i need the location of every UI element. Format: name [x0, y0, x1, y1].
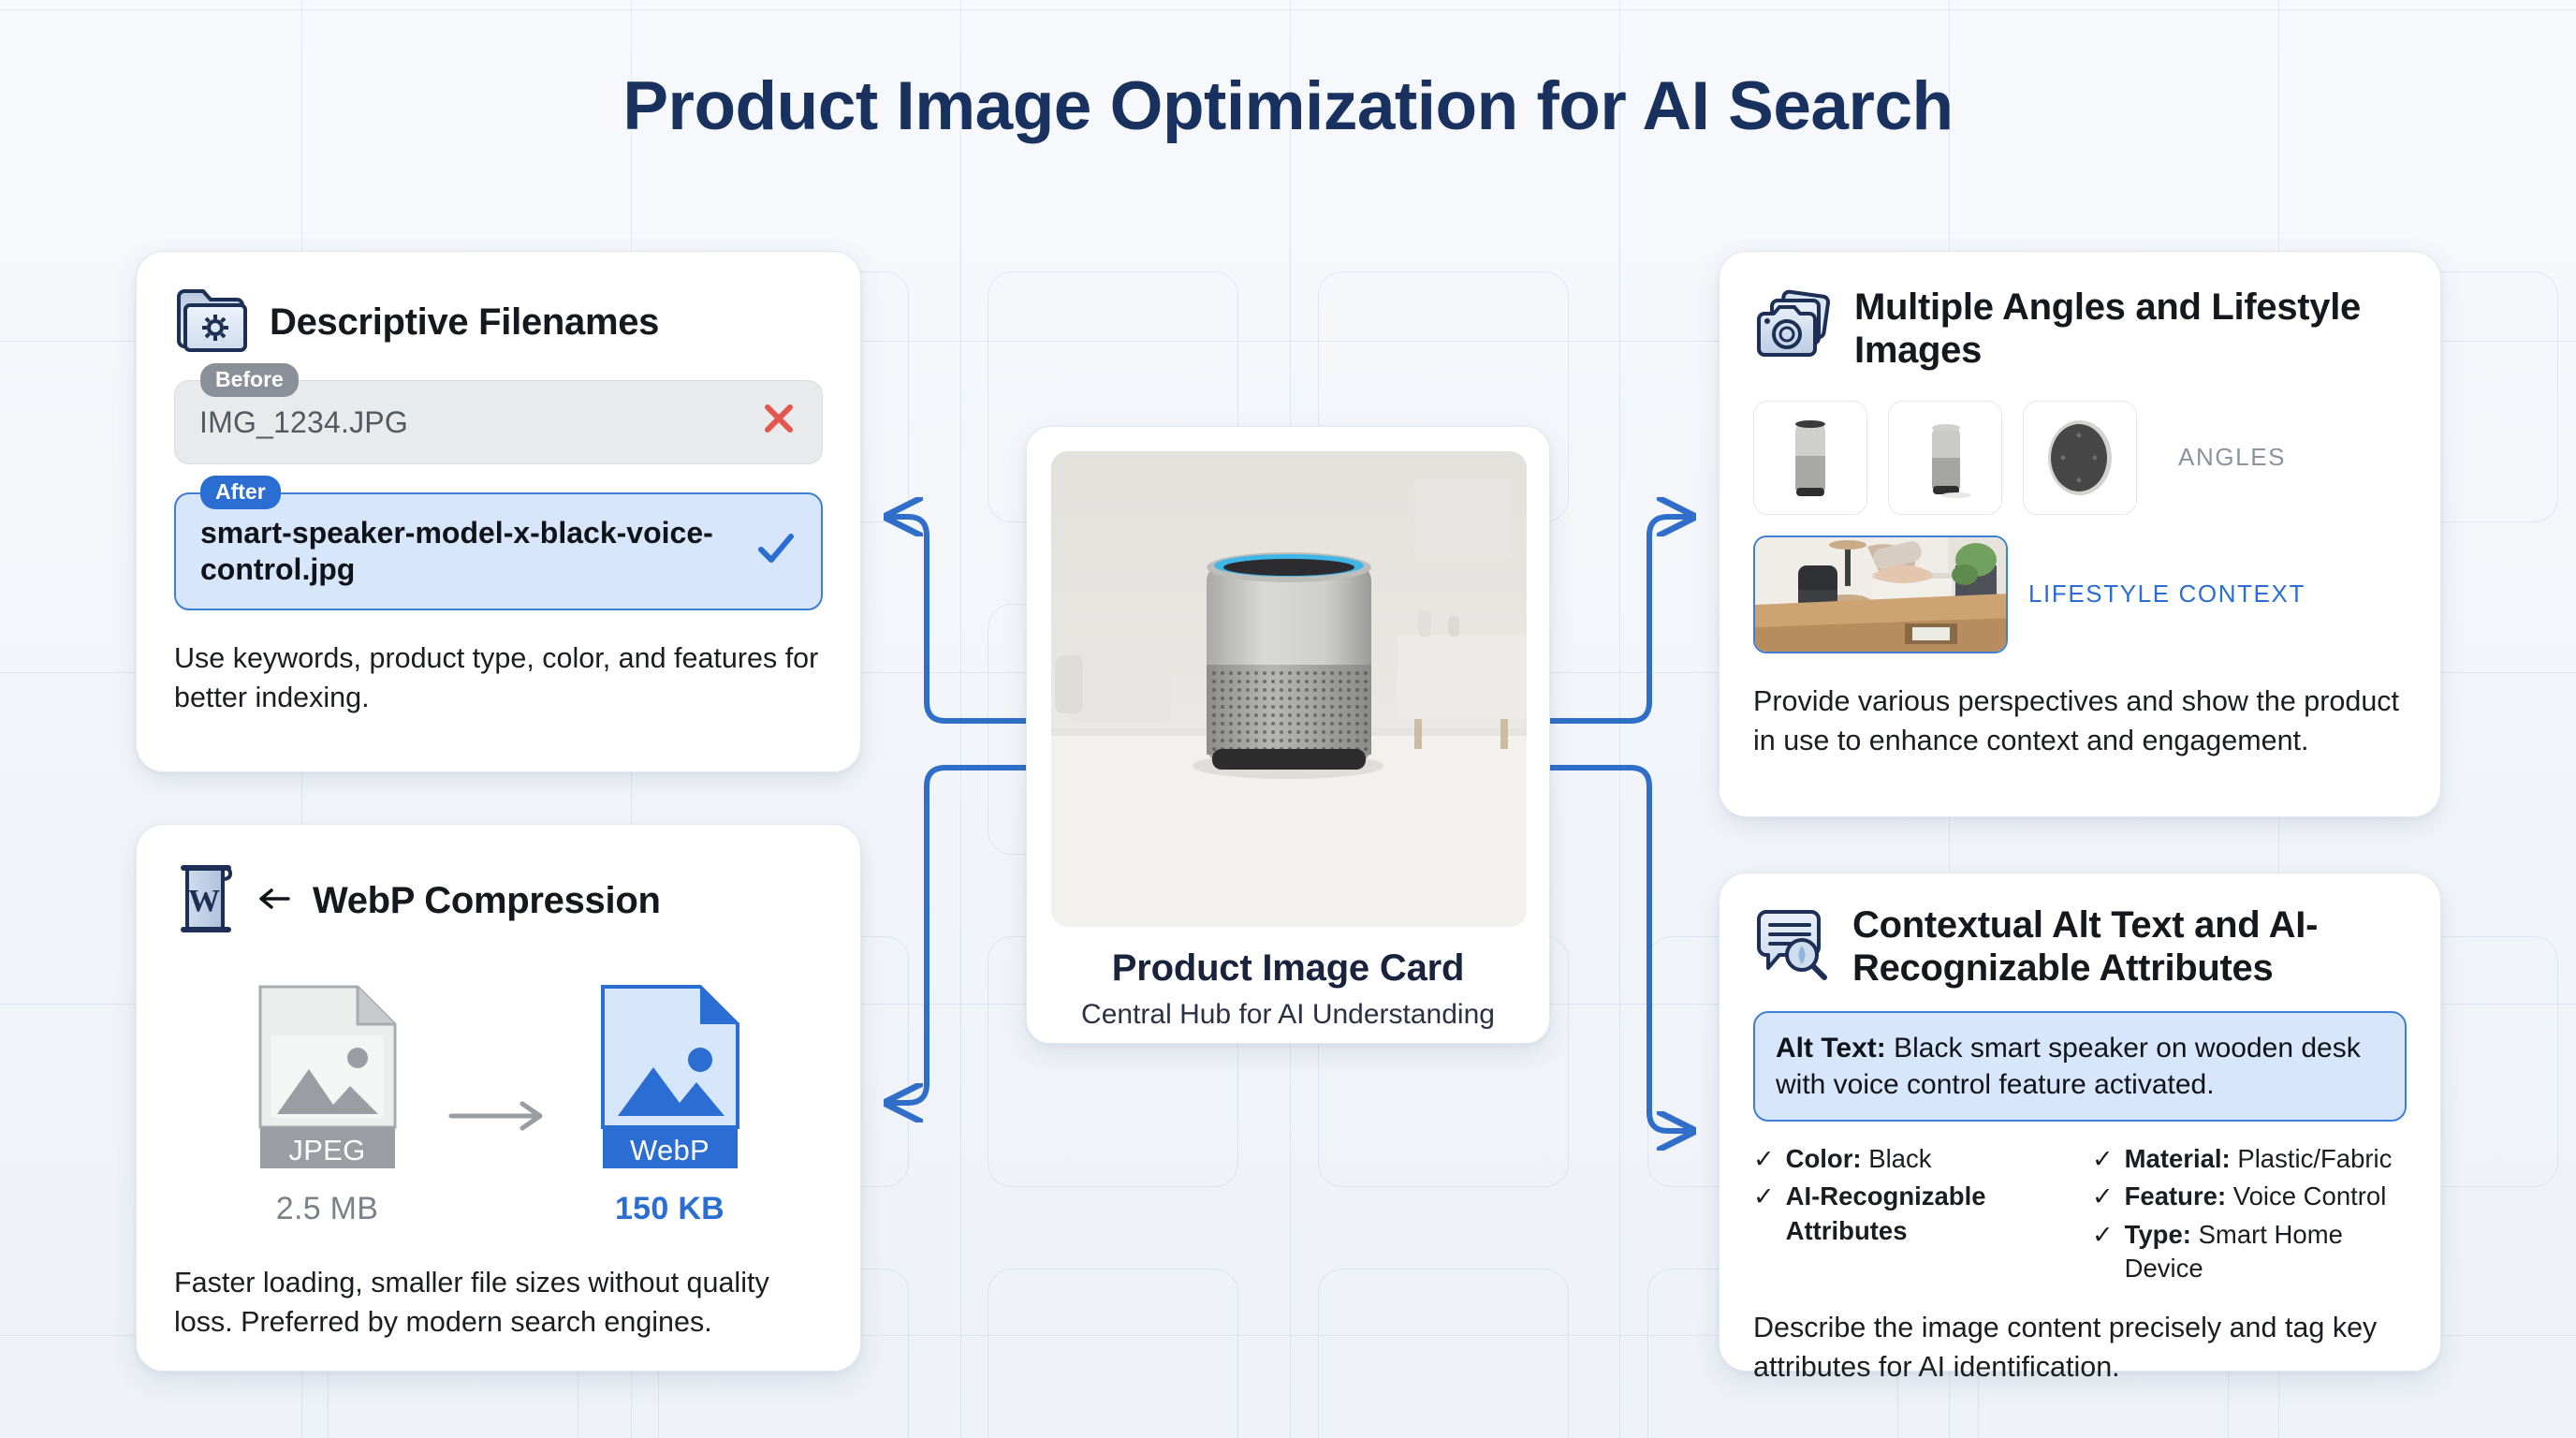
- thumbnail-speaker-top[interactable]: [2023, 401, 2137, 515]
- attribute-value: Plastic/Fabric: [2237, 1144, 2392, 1173]
- card-description: Describe the image content precisely and…: [1753, 1308, 2407, 1387]
- jpeg-file-icon: JPEG: [253, 983, 402, 1170]
- comment-search-icon: [1753, 908, 1832, 986]
- lifestyle-label: LIFESTYLE CONTEXT: [2028, 580, 2305, 609]
- angles-label: ANGLES: [2178, 443, 2286, 472]
- card-description: Faster loading, smaller file sizes witho…: [174, 1263, 823, 1342]
- card-header: Multiple Angles and Lifestyle Images: [1753, 286, 2407, 373]
- card-title: WebP Compression: [313, 879, 661, 922]
- attribute-item: ✓ Color: Black: [1753, 1140, 2068, 1178]
- attribute-key: Feature:: [2125, 1181, 2227, 1211]
- card-header: Contextual Alt Text and AI-Recognizable …: [1753, 903, 2407, 990]
- angle-thumbnails: ANGLES: [1753, 401, 2407, 515]
- check-small-icon: ✓: [1753, 1142, 1775, 1176]
- product-photo: [1051, 451, 1527, 927]
- arrow-right-icon: [447, 1099, 550, 1137]
- after-tag: After: [200, 476, 281, 509]
- attribute-key: Material:: [2125, 1144, 2231, 1173]
- card-title: Descriptive Filenames: [270, 301, 659, 344]
- before-filename-value: IMG_1234.JPG: [199, 405, 408, 440]
- card-alt-text: Contextual Alt Text and AI-Recognizable …: [1719, 873, 2441, 1372]
- alt-text-box: Alt Text: Black smart speaker on wooden …: [1753, 1011, 2407, 1122]
- target-file: WebP 150 KB: [595, 983, 745, 1227]
- check-small-icon: ✓: [1753, 1180, 1775, 1213]
- before-filename-field: Before IMG_1234.JPG: [174, 380, 823, 464]
- cross-icon: [760, 400, 798, 445]
- webp-label: WebP: [595, 1134, 745, 1170]
- folder-gear-icon: [174, 286, 249, 359]
- attribute-key: AI-Recognizable: [1786, 1181, 1986, 1211]
- attribute-value: Voice Control: [2233, 1181, 2387, 1211]
- scroll-w-icon: W: [174, 858, 240, 944]
- jpeg-size: 2.5 MB: [276, 1191, 379, 1227]
- card-multiple-angles: Multiple Angles and Lifestyle Images: [1719, 251, 2441, 817]
- card-title: Contextual Alt Text and AI-Recognizable …: [1852, 903, 2407, 990]
- source-file: JPEG 2.5 MB: [253, 983, 402, 1227]
- before-tag: Before: [200, 363, 299, 397]
- alt-text-label: Alt Text:: [1776, 1033, 1886, 1064]
- card-description: Provide various perspectives and show th…: [1753, 682, 2407, 760]
- attribute-item: ✓ Material: Plastic/Fabric: [2092, 1140, 2407, 1178]
- attribute-item: ✓ Type: Smart Home Device: [2092, 1216, 2407, 1288]
- center-card-title: Product Image Card: [1051, 947, 1525, 990]
- card-description: Use keywords, product type, color, and f…: [174, 638, 823, 717]
- after-filename-value: smart-speaker-model-x-black-voice-contro…: [200, 515, 734, 588]
- attribute-value: Attributes: [1786, 1216, 1908, 1245]
- check-small-icon: ✓: [2092, 1142, 2114, 1176]
- attribute-item: ✓ Feature: Voice Control: [2092, 1178, 2407, 1215]
- check-small-icon: ✓: [2092, 1218, 2114, 1252]
- jpeg-label: JPEG: [253, 1134, 402, 1170]
- webp-file-icon: WebP: [595, 983, 745, 1170]
- card-webp-compression: W WebP Compression: [136, 824, 861, 1372]
- card-header: W WebP Compression: [174, 858, 823, 944]
- infographic-canvas: Product Image Optimization for AI Search: [0, 0, 2576, 1438]
- format-conversion: JPEG 2.5 MB WebP 150: [174, 983, 823, 1227]
- lifestyle-image[interactable]: [1753, 536, 2008, 653]
- thumbnail-speaker-angle[interactable]: [1888, 401, 2002, 515]
- card-title: Multiple Angles and Lifestyle Images: [1854, 286, 2407, 373]
- attributes-list: ✓ Color: Black ✓ AI-Recognizable Attribu…: [1753, 1140, 2407, 1287]
- card-header: Descriptive Filenames: [174, 286, 823, 359]
- center-card-subtitle: Central Hub for AI Understanding: [1051, 999, 1525, 1031]
- after-filename-field: After smart-speaker-model-x-black-voice-…: [174, 492, 823, 610]
- card-descriptive-filenames: Descriptive Filenames Before IMG_1234.JP…: [136, 251, 861, 772]
- thumbnail-speaker-front[interactable]: [1753, 401, 1867, 515]
- camera-photos-icon: [1753, 289, 1834, 369]
- arrow-left-icon: [255, 886, 292, 917]
- card-product-image[interactable]: Product Image Card Central Hub for AI Un…: [1026, 426, 1550, 1044]
- page-title: Product Image Optimization for AI Search: [0, 67, 2576, 145]
- attribute-key: Color:: [1786, 1144, 1862, 1173]
- attribute-value: Black: [1868, 1144, 1931, 1173]
- attribute-item: ✓ AI-Recognizable Attributes: [1753, 1178, 2068, 1250]
- attribute-key: Type:: [2125, 1220, 2191, 1249]
- svg-text:W: W: [188, 884, 220, 918]
- lifestyle-row: LIFESTYLE CONTEXT: [1753, 536, 2407, 653]
- webp-size: 150 KB: [615, 1191, 724, 1227]
- check-icon: [755, 530, 797, 574]
- check-small-icon: ✓: [2092, 1180, 2114, 1213]
